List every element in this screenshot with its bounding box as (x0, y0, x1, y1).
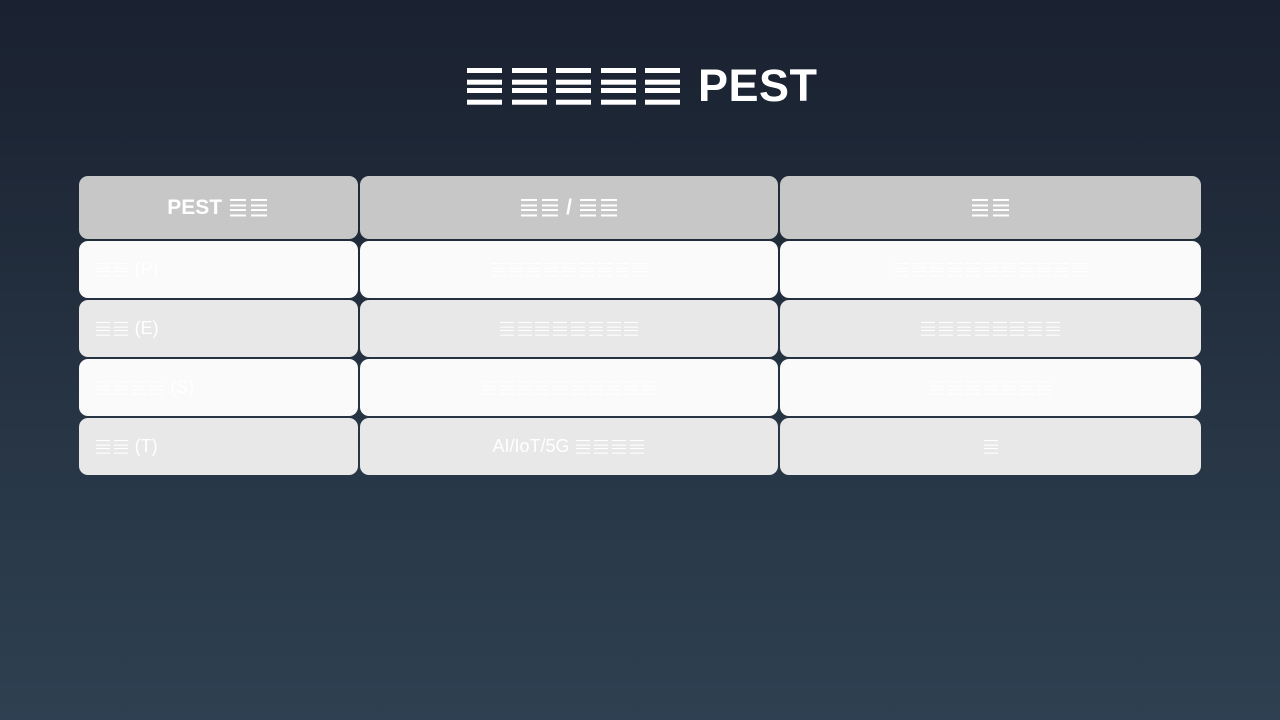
missing-glyph-box (507, 261, 524, 278)
table-row: (E) (78, 299, 1202, 358)
missing-glyph-box (929, 379, 946, 396)
missing-glyph-box (1018, 261, 1035, 278)
missing-glyph-box (947, 379, 964, 396)
missing-glyph-box (623, 320, 640, 337)
cell-factor: (S) (79, 359, 358, 416)
missing-glyph-box (956, 320, 973, 337)
missing-glyph-box (911, 261, 928, 278)
missing-glyph-box (605, 320, 622, 337)
missing-glyph-box (570, 379, 587, 396)
missing-glyph-box (982, 438, 999, 455)
missing-glyph-box (1036, 261, 1053, 278)
missing-glyph-box (464, 65, 505, 106)
missing-glyph-box (965, 379, 982, 396)
missing-glyph-box (519, 198, 538, 217)
missing-glyph-box (605, 379, 622, 396)
missing-glyph-box (579, 261, 596, 278)
missing-glyph-box (1000, 261, 1017, 278)
missing-glyph-box (1071, 261, 1088, 278)
missing-glyph-box (112, 438, 129, 455)
page-title: PEST (0, 62, 1280, 111)
missing-glyph-box (509, 65, 550, 106)
column-header-factor: PEST (79, 176, 358, 239)
cell-impact (780, 300, 1201, 357)
missing-glyph-box (552, 320, 569, 337)
missing-glyph-box (642, 65, 683, 106)
cell-impact (780, 241, 1201, 298)
missing-glyph-box (561, 261, 578, 278)
missing-glyph-box (579, 198, 598, 217)
missing-glyph-box (95, 379, 112, 396)
missing-glyph-box (1009, 320, 1026, 337)
missing-glyph-box (148, 379, 165, 396)
cell-description (360, 359, 779, 416)
missing-glyph-box (552, 379, 569, 396)
cell-impact (780, 418, 1201, 475)
missing-glyph-box (499, 379, 516, 396)
missing-glyph-box (534, 320, 551, 337)
missing-glyph-box (588, 320, 605, 337)
missing-glyph-box (112, 379, 129, 396)
missing-glyph-box (598, 65, 639, 106)
table-header-row: PEST / (78, 175, 1202, 240)
missing-glyph-box (516, 379, 533, 396)
missing-glyph-box (1027, 320, 1044, 337)
missing-glyph-box (112, 261, 129, 278)
column-header-impact (780, 176, 1201, 239)
missing-glyph-box (982, 379, 999, 396)
missing-glyph-box (499, 320, 516, 337)
missing-glyph-box (611, 438, 628, 455)
missing-glyph-box (614, 261, 631, 278)
missing-glyph-box (570, 320, 587, 337)
missing-glyph-box (991, 198, 1010, 217)
missing-glyph-box (593, 438, 610, 455)
cell-description (360, 241, 779, 298)
cell-impact (780, 359, 1201, 416)
missing-glyph-box (893, 261, 910, 278)
table-row: (T) AI/IoT/5G (78, 417, 1202, 476)
missing-glyph-box (974, 320, 991, 337)
missing-glyph-box (920, 320, 937, 337)
missing-glyph-box (130, 379, 147, 396)
missing-glyph-box (516, 320, 533, 337)
missing-glyph-box (229, 198, 248, 217)
cell-factor: (P) (79, 241, 358, 298)
missing-glyph-box (1054, 261, 1071, 278)
missing-glyph-box (588, 379, 605, 396)
missing-glyph-box (938, 320, 955, 337)
column-header-description: / (360, 176, 779, 239)
missing-glyph-box (540, 198, 559, 217)
missing-glyph-box (1036, 379, 1053, 396)
missing-glyph-box (490, 261, 507, 278)
missing-glyph-box (553, 65, 594, 106)
missing-glyph-box (95, 438, 112, 455)
missing-glyph-box (95, 261, 112, 278)
cell-factor: (E) (79, 300, 358, 357)
missing-glyph-box (481, 379, 498, 396)
cell-description: AI/IoT/5G (360, 418, 779, 475)
missing-glyph-box (629, 438, 646, 455)
missing-glyph-box (525, 261, 542, 278)
missing-glyph-box (1018, 379, 1035, 396)
missing-glyph-box (596, 261, 613, 278)
table-row: (S) (78, 358, 1202, 417)
missing-glyph-box (982, 261, 999, 278)
pest-analysis-table: PEST / (P) (E) (S) (T) AI/IoT/5G (78, 175, 1202, 476)
cell-factor: (T) (79, 418, 358, 475)
cell-description (360, 300, 779, 357)
missing-glyph-box (991, 320, 1008, 337)
missing-glyph-box (534, 379, 551, 396)
missing-glyph-box (599, 198, 618, 217)
missing-glyph-box (1045, 320, 1062, 337)
missing-glyph-box (95, 320, 112, 337)
missing-glyph-box (971, 198, 990, 217)
missing-glyph-box (965, 261, 982, 278)
missing-glyph-box (575, 438, 592, 455)
missing-glyph-box (1000, 379, 1017, 396)
missing-glyph-box (112, 320, 129, 337)
table-row: (P) (78, 240, 1202, 299)
missing-glyph-box (929, 261, 946, 278)
missing-glyph-box (947, 261, 964, 278)
missing-glyph-box (249, 198, 268, 217)
missing-glyph-box (632, 261, 649, 278)
missing-glyph-box (623, 379, 640, 396)
missing-glyph-box (543, 261, 560, 278)
missing-glyph-box (641, 379, 658, 396)
